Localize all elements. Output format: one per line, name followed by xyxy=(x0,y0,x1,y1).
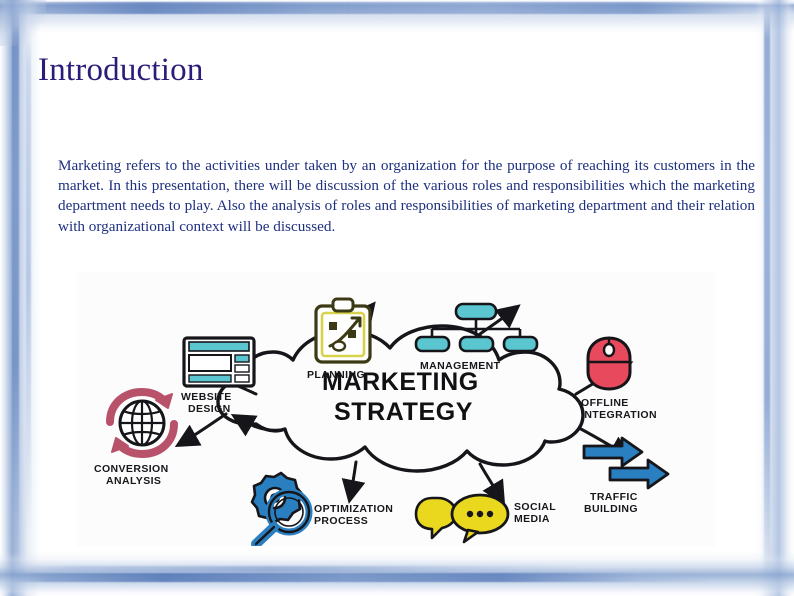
node-planning: PLANNING xyxy=(307,299,370,381)
node-conversion-analysis: CONVERSION ANALYSIS xyxy=(94,392,174,487)
label-offline-integration-line1: OFFLINE xyxy=(581,397,629,409)
browser-window-icon xyxy=(184,338,254,386)
clipboard-icon xyxy=(316,299,370,362)
label-social-media-line2: MEDIA xyxy=(514,513,550,525)
presentation-slide: Introduction Marketing refers to the act… xyxy=(0,0,794,596)
node-website-design: WEBSITE DESIGN xyxy=(181,338,254,415)
label-social-media-line1: SOCIAL xyxy=(514,501,556,513)
node-management: MANAGEMENT xyxy=(416,304,537,372)
computer-mouse-icon xyxy=(588,338,630,389)
node-offline-integration: OFFLINE INTEGRATION xyxy=(581,338,657,421)
label-website-design-line1: WEBSITE xyxy=(181,391,232,403)
label-optimization-process-line1: OPTIMIZATION xyxy=(314,503,393,515)
globe-refresh-icon xyxy=(110,392,174,454)
node-traffic-building: TRAFFIC BUILDING xyxy=(584,438,668,515)
node-social-media: SOCIAL MEDIA xyxy=(416,495,556,542)
page-title: Introduction xyxy=(38,52,204,89)
label-management-line1: MANAGEMENT xyxy=(420,360,501,372)
cloud-label-line2: STRATEGY xyxy=(334,398,473,426)
magnifier-gear-icon xyxy=(252,473,309,544)
label-conversion-analysis-line2: ANALYSIS xyxy=(106,475,161,487)
arrow-to-conversion-analysis xyxy=(180,414,226,444)
speech-bubbles-icon xyxy=(416,495,508,542)
marketing-strategy-diagram: MARKETING STRATEGY xyxy=(76,272,716,546)
node-optimization-process: OPTIMIZATION PROCESS xyxy=(252,473,393,544)
label-website-design-line2: DESIGN xyxy=(188,403,231,415)
arrow-to-optimization-process xyxy=(350,462,356,498)
label-conversion-analysis-line1: CONVERSION xyxy=(94,463,169,475)
label-traffic-building-line2: BUILDING xyxy=(584,503,638,515)
double-arrow-icon xyxy=(584,438,668,488)
body-paragraph: Marketing refers to the activities under… xyxy=(58,156,755,237)
label-planning-line1: PLANNING xyxy=(307,369,365,381)
label-traffic-building-line1: TRAFFIC xyxy=(590,491,638,503)
label-optimization-process-line2: PROCESS xyxy=(314,515,368,527)
label-offline-integration-line2: INTEGRATION xyxy=(581,409,657,421)
